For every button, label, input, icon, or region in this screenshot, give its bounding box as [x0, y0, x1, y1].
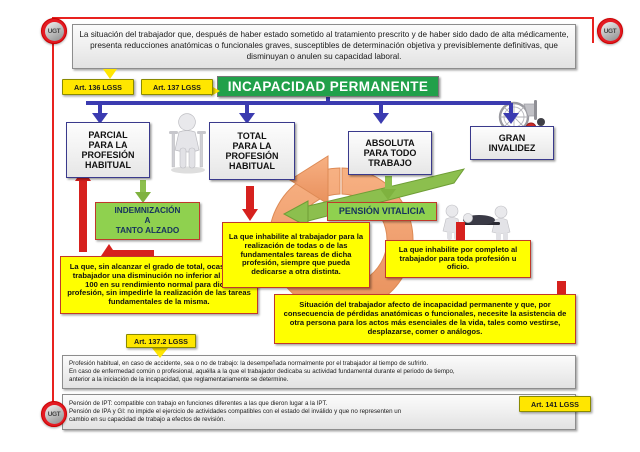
ugt-logo-top-left: UGT: [41, 18, 67, 44]
cat-absoluta-l3: TRABAJO: [364, 158, 417, 168]
tag-art-136-label: Art. 136 LGSS: [74, 83, 122, 92]
cat-parcial-l4: HABITUAL: [81, 160, 134, 170]
category-gran-label: GRAN INVALIDEZ: [489, 133, 536, 153]
blue-arrow-3-head: [373, 113, 389, 124]
note-profesion-nub: [152, 348, 168, 358]
frame-rail-left: [52, 17, 54, 409]
category-parcial[interactable]: PARCIAL PARA LA PROFESIÓN HABITUAL: [66, 122, 150, 178]
infographic-root: La situación del trabajador que, después…: [0, 0, 640, 452]
note-compat-l2: Pensión de IPA y GI: no impide el ejerci…: [69, 408, 401, 416]
blue-stem-banner: [326, 97, 330, 103]
main-banner: INCAPACIDAD PERMANENTE: [217, 76, 439, 97]
note-compat-l3: cambio en su capacidad de trabajo a efec…: [69, 416, 401, 424]
detail-absoluta-text: La que inhabilite por completo al trabaj…: [391, 246, 525, 273]
indemnizacion-l3: TANTO ALZADO: [115, 226, 181, 236]
detail-absoluta: La que inhabilite por completo al trabaj…: [385, 240, 531, 278]
tag-art-137-2[interactable]: Art. 137.2 LGSS: [126, 334, 196, 348]
cat-total-l4: HABITUAL: [225, 161, 278, 171]
green-arrow-absoluta-head: [380, 189, 396, 200]
tag-art-136[interactable]: Art. 136 LGSS: [62, 79, 134, 95]
note-profesion-habitual: Profesión habitual, en caso de accidente…: [62, 355, 576, 389]
cat-total-l1: TOTAL: [225, 131, 278, 141]
blue-arrow-4-head: [503, 113, 519, 124]
person-with-crutches-icon: [165, 112, 211, 174]
ugt-logo-disc: UGT: [601, 22, 620, 41]
cat-gran-l2: INVALIDEZ: [489, 143, 536, 153]
cat-parcial-l3: PROFESIÓN: [81, 150, 134, 160]
blue-bus-horizontal: [86, 101, 511, 105]
note-profesion-l2: En caso de enfermedad común o profesiona…: [69, 368, 455, 376]
ugt-logo-bottom-left: UGT: [41, 401, 67, 427]
note-compatibilidad: Pensión de IPT: compatible con trabajo e…: [62, 394, 576, 430]
cat-absoluta-l2: PARA TODO: [364, 148, 417, 158]
category-total[interactable]: TOTAL PARA LA PROFESIÓN HABITUAL: [209, 122, 295, 180]
ugt-logo-disc: UGT: [45, 22, 64, 41]
cat-parcial-l2: PARA LA: [81, 140, 134, 150]
benefit-indemnizacion[interactable]: INDEMNIZACIÓN A TANTO ALZADO: [95, 202, 200, 240]
detail-gran-invalidez: Situación del trabajador afecto de incap…: [274, 294, 576, 344]
cat-gran-l1: GRAN: [489, 133, 536, 143]
cat-total-l2: PARA LA: [225, 141, 278, 151]
red-arrow-total-head: [242, 209, 258, 221]
benefit-pension-label: PENSIÓN VITALICIA: [339, 206, 425, 217]
category-gran-invalidez[interactable]: GRAN INVALIDEZ: [470, 126, 554, 160]
note-profesion-l1: Profesión habitual, en caso de accidente…: [69, 360, 455, 368]
benefit-indemnizacion-label: INDEMNIZACIÓN A TANTO ALZADO: [115, 206, 181, 236]
indemnizacion-l1: INDEMNIZACIÓN: [115, 206, 181, 216]
frame-rail-top: [52, 17, 594, 19]
detail-total-text: La que inhabilite al trabajador para la …: [228, 233, 364, 278]
definition-box: La situación del trabajador que, después…: [72, 24, 576, 69]
definition-callout-nub: [103, 69, 117, 79]
red-arrow-total-stem: [246, 186, 254, 210]
cat-absoluta-l1: ABSOLUTA: [364, 138, 417, 148]
ugt-logo-disc: UGT: [45, 405, 64, 424]
category-absoluta-label: ABSOLUTA PARA TODO TRABAJO: [364, 138, 417, 168]
detail-total: La que inhabilite al trabajador para la …: [222, 222, 370, 288]
note-compatibilidad-lines: Pensión de IPT: compatible con trabajo e…: [69, 400, 401, 425]
green-arrow-absoluta-stem: [385, 176, 392, 190]
cat-parcial-l1: PARCIAL: [81, 130, 134, 140]
tag-art-141[interactable]: Art. 141 LGSS: [519, 396, 591, 412]
tag-art-137-label: Art. 137 LGSS: [153, 83, 201, 92]
detail-gran-text: Situación del trabajador afecto de incap…: [280, 301, 570, 337]
red-arrow-parcial-stem: [79, 180, 87, 252]
note-profesion-lines: Profesión habitual, en caso de accidente…: [69, 360, 455, 385]
main-banner-title: INCAPACIDAD PERMANENTE: [228, 79, 429, 94]
indemnizacion-l2: A: [115, 216, 181, 226]
tag-art-141-label: Art. 141 LGSS: [531, 400, 579, 409]
red-arrow-parcial-top-head: [101, 244, 117, 256]
red-arrow-pension-stem: [456, 222, 465, 241]
note-profesion-l3: anterior a la iniciación de la incapacid…: [69, 376, 455, 384]
frame-rail-right: [592, 17, 594, 43]
note-compat-l1: Pensión de IPT: compatible con trabajo e…: [69, 400, 401, 408]
category-absoluta[interactable]: ABSOLUTA PARA TODO TRABAJO: [348, 131, 432, 175]
tag-art-137[interactable]: Art. 137 LGSS: [141, 79, 213, 95]
category-parcial-label: PARCIAL PARA LA PROFESIÓN HABITUAL: [81, 130, 134, 170]
benefit-pension-vitalicia[interactable]: PENSIÓN VITALICIA: [327, 202, 437, 221]
category-total-label: TOTAL PARA LA PROFESIÓN HABITUAL: [225, 131, 278, 171]
definition-text: La situación del trabajador que, después…: [78, 30, 570, 62]
cat-total-l3: PROFESIÓN: [225, 151, 278, 161]
ugt-logo-top-right: UGT: [597, 18, 623, 44]
tag-art-137-2-label: Art. 137.2 LGSS: [134, 337, 188, 346]
